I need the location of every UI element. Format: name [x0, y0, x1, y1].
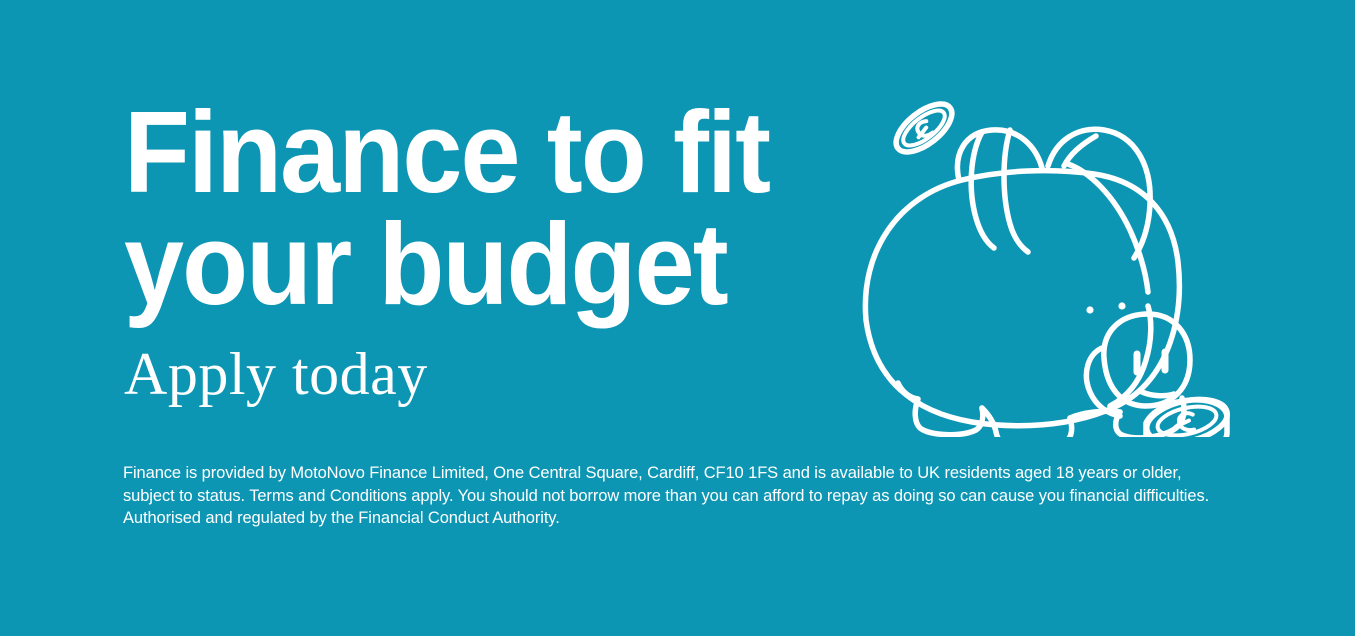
finance-promo-banner: Finance to fit your budget Apply today F…	[0, 0, 1355, 636]
pig-ear-left-inner-2	[1004, 130, 1028, 252]
legal-disclaimer-text: Finance is provided by MotoNovo Finance …	[123, 462, 1215, 530]
piggy-bank-illustration	[852, 92, 1232, 437]
coin-bottom-right	[1143, 392, 1232, 437]
subheadline: Apply today	[124, 320, 924, 404]
pig-leg-front	[898, 383, 983, 435]
coin-top-left	[888, 95, 960, 161]
pig-eye-left	[1086, 306, 1093, 313]
banner-copy-block: Finance to fit your budget Apply today	[124, 96, 924, 404]
pig-ear-left-inner	[971, 132, 994, 248]
page-title: Finance to fit your budget	[124, 96, 868, 320]
pig-haunch-line	[1142, 392, 1174, 396]
pig-eye-right	[1118, 302, 1125, 309]
pig-ear-right-crease	[1068, 164, 1148, 292]
